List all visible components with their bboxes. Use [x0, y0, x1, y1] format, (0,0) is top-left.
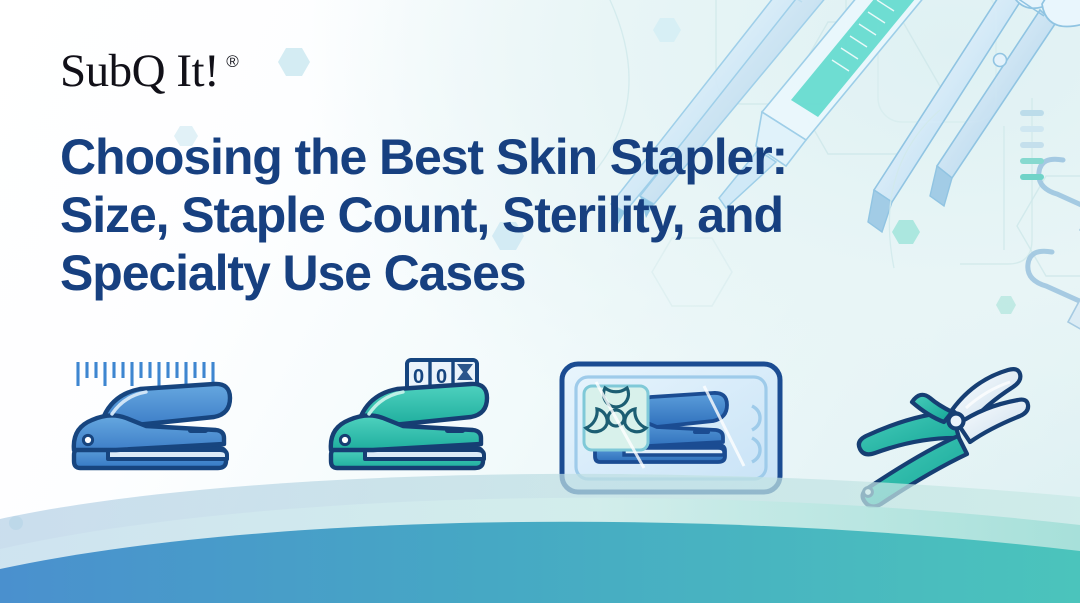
pliers-pivot-screw: [949, 414, 964, 429]
page-title-line-2: Size, Staple Count, Sterility, and: [60, 186, 1050, 244]
brand-logo[interactable]: SubQ It! ®: [60, 48, 239, 95]
bottom-wave-decoration: [0, 453, 1080, 603]
counter-digit-1: 0: [413, 366, 424, 388]
stapler-slot: [188, 428, 208, 433]
page-title-line-3: Specialty Use Cases: [60, 244, 1050, 302]
page-title-line-1: Choosing the Best Skin Stapler:: [60, 128, 1050, 186]
stapler-pivot-pin: [340, 435, 349, 444]
page-title: Choosing the Best Skin Stapler: Size, St…: [60, 128, 1050, 302]
ruler-scale-icon: [78, 362, 213, 386]
stapler-slot: [445, 428, 465, 433]
blog-header-banner: SubQ It! ® Choosing the Best Skin Staple…: [0, 0, 1080, 603]
stapler-pivot-pin: [83, 435, 92, 444]
brand-logo-text: SubQ It!: [60, 48, 219, 95]
registered-trademark-mark: ®: [226, 52, 239, 72]
